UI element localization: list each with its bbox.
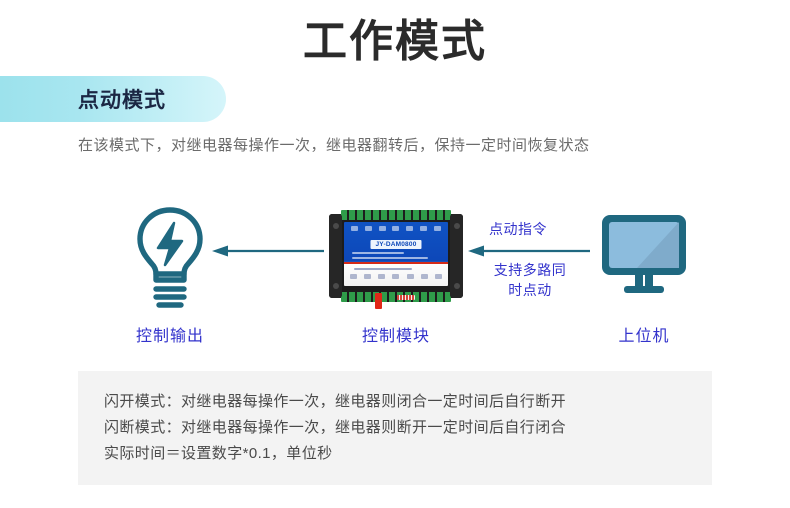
device-top-terminal-strip: [341, 210, 451, 220]
device-dip-switch: [397, 295, 415, 300]
notes-panel: 闪开模式：对继电器每操作一次，继电器则闭合一定时间后自行断开 闪断模式：对继电器…: [78, 371, 712, 485]
relay-module-icon: JY-DAM0800: [329, 208, 463, 304]
device-bottom-terminal-strip: [341, 292, 451, 302]
device-port-icons-row: [348, 226, 444, 231]
notes-list: 闪开模式：对继电器每操作一次，继电器则闭合一定时间后自行断开 闪断模式：对继电器…: [104, 389, 698, 467]
arrow-host-to-module: [468, 244, 590, 258]
device-screw: [454, 223, 460, 229]
monitor-icon: [597, 206, 691, 300]
command-label-top: 点动指令: [489, 219, 547, 239]
device-screw: [333, 283, 339, 289]
command-label-bottom: 支持多路同 时点动: [468, 260, 592, 301]
section-badge: 点动模式: [0, 76, 226, 122]
device-screw: [454, 283, 460, 289]
device-bottom-port-icons: [346, 274, 446, 279]
section-badge-label: 点动模式: [78, 84, 166, 114]
command-label-bottom-line-1: 支持多路同: [468, 260, 592, 280]
workflow-diagram: JY-DAM0800 点动指令 支持多路同: [0, 196, 790, 356]
command-label-bottom-line-2: 时点动: [468, 280, 592, 300]
device-spec-text: [352, 252, 404, 254]
device-end-cap-right: [450, 214, 463, 298]
device-end-cap-left: [329, 214, 342, 298]
device-front-panel: JY-DAM0800: [344, 222, 448, 286]
node-caption-host-computer: 上位机: [574, 322, 714, 346]
arrow-module-to-output: [212, 244, 324, 258]
device-divider-line: [344, 262, 448, 264]
note-line: 闪开模式：对继电器每操作一次，继电器则闭合一定时间后自行断开: [104, 389, 698, 415]
node-caption-control-output: 控制输出: [100, 322, 240, 346]
device-bottom-text: [354, 268, 412, 270]
note-line: 闪断模式：对继电器每操作一次，继电器则断开一定时间后自行闭合: [104, 415, 698, 441]
device-red-terminal: [375, 293, 382, 309]
mode-description: 在该模式下，对继电器每操作一次，继电器翻转后，保持一定时间恢复状态: [78, 134, 590, 155]
device-spec-text: [352, 257, 428, 259]
page-title: 工作模式: [0, 16, 790, 69]
device-screw: [333, 223, 339, 229]
lightbulb-icon: [132, 204, 208, 310]
note-line: 实际时间＝设置数字*0.1，单位秒: [104, 441, 698, 467]
node-caption-control-module: 控制模块: [326, 322, 466, 346]
device-model-label: JY-DAM0800: [370, 240, 421, 249]
